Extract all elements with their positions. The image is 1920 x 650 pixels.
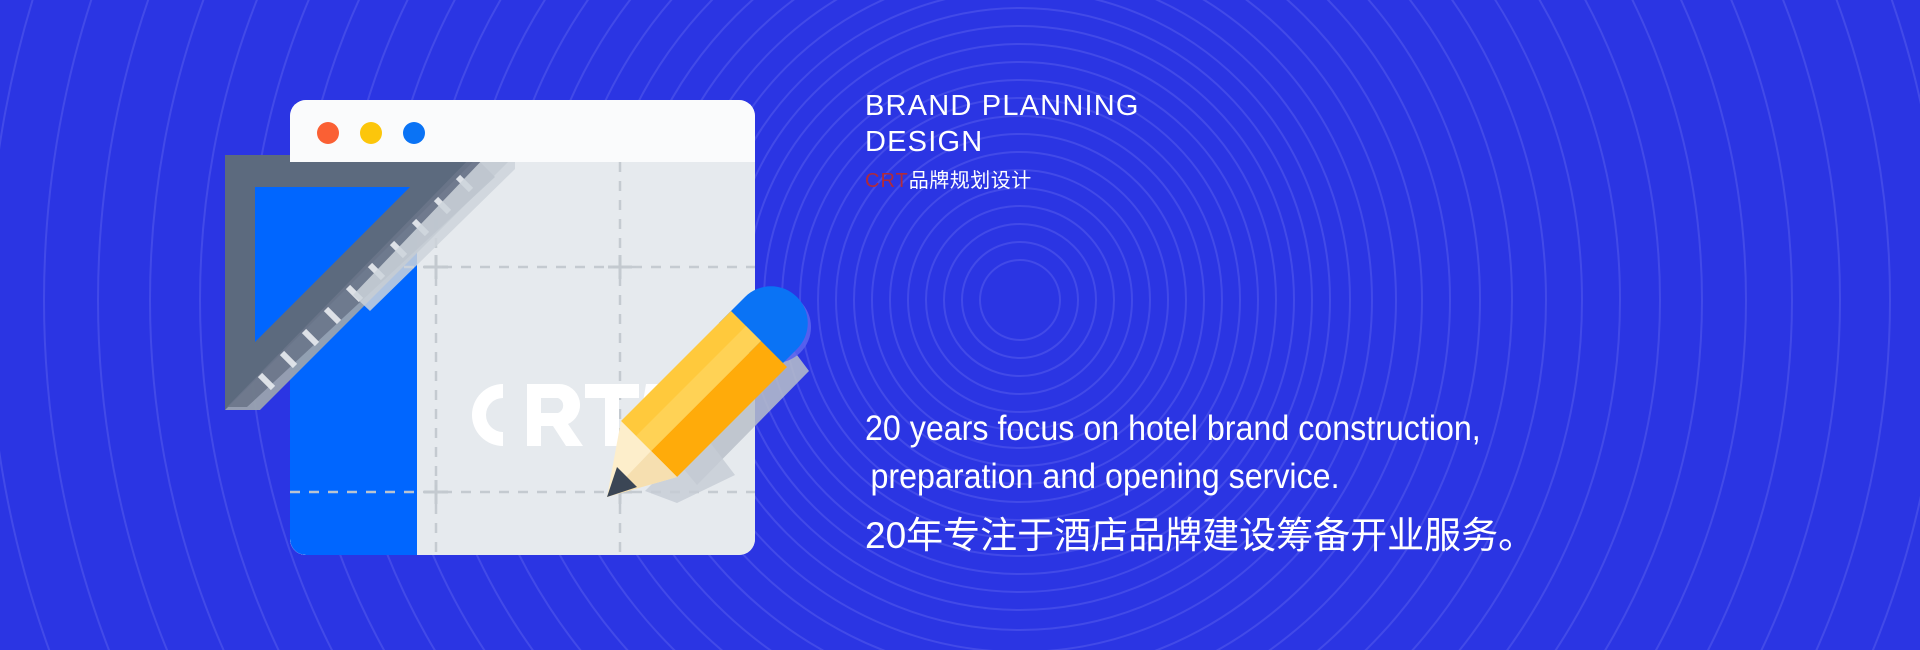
headline-line-2: DESIGN [865,124,1505,160]
slogan-zh-line: 20年专注于酒店品牌建设筹备开业服务。 [865,511,1825,561]
crt-brand-mark: CRT [865,170,909,192]
headline-block: BRAND PLANNING DESIGN CRT品牌规划设计 [865,88,1505,194]
brand-design-illustration [0,0,900,650]
pencil-icon [585,275,825,515]
headline-line-1: BRAND PLANNING [865,88,1505,124]
triangle-ruler [225,155,515,420]
brand-planning-banner: BRAND PLANNING DESIGN CRT品牌规划设计 20 years… [0,0,1920,650]
headline-chinese-line: CRT品牌规划设计 [865,168,1505,194]
slogan-en-line-1: 20 years focus on hotel brand constructi… [865,405,1748,453]
slogan-block: 20 years focus on hotel brand constructi… [865,405,1825,561]
slogan-en-line-2: preparation and opening service. [865,453,1748,501]
headline-chinese-text: 品牌规划设计 [909,170,1032,192]
